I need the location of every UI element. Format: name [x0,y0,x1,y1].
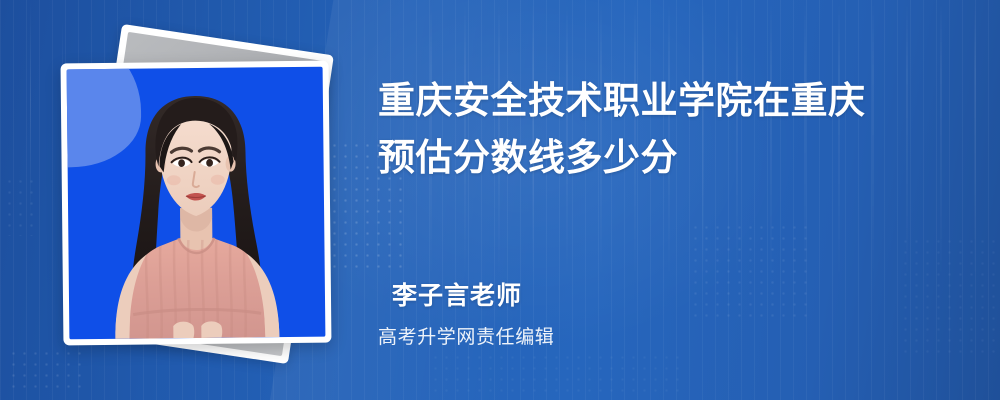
text-column: 重庆安全技术职业学院在重庆预估分数线多少分 李子言老师 高考升学网责任编辑 [378,0,938,400]
portrait-photo [67,67,326,340]
portrait-illustration [67,67,326,340]
photo-card-front [61,61,332,346]
author-name: 李子言老师 [392,276,522,312]
page-title: 重庆安全技术职业学院在重庆预估分数线多少分 [378,72,898,186]
author-role: 高考升学网责任编辑 [378,322,554,349]
banner-image: 重庆安全技术职业学院在重庆预估分数线多少分 李子言老师 高考升学网责任编辑 [0,0,1000,400]
photo-card-cluster [0,0,360,400]
